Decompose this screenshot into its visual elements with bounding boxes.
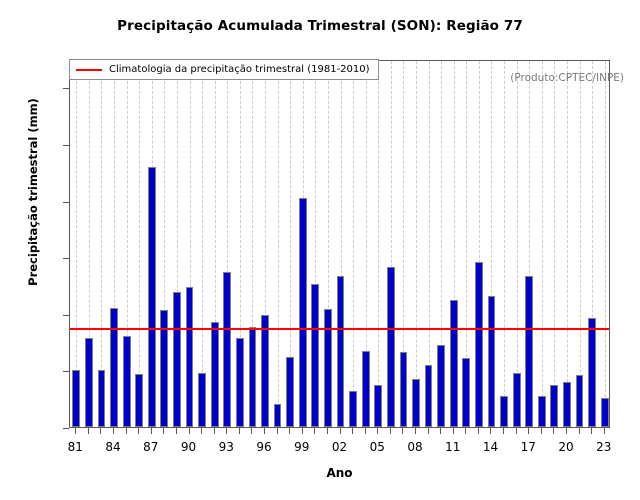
x-tick-mark xyxy=(490,428,491,434)
x-tick-mark xyxy=(75,428,76,434)
gridline xyxy=(542,61,543,427)
bar xyxy=(450,300,458,427)
gridline xyxy=(353,61,354,427)
bar xyxy=(387,267,395,427)
x-tick-label: 14 xyxy=(470,440,510,454)
x-tick-mark xyxy=(302,428,303,434)
x-tick-label: 81 xyxy=(55,440,95,454)
x-tick-mark xyxy=(516,428,517,434)
gridline xyxy=(416,61,417,427)
gridline xyxy=(517,61,518,427)
bar xyxy=(374,385,382,427)
x-tick-mark xyxy=(189,428,190,434)
bar xyxy=(412,379,420,427)
x-tick-mark xyxy=(314,428,315,434)
bar xyxy=(488,296,496,427)
legend: Climatologia da precipitação trimestral … xyxy=(69,59,379,80)
x-tick-mark xyxy=(88,428,89,434)
x-tick-mark xyxy=(340,428,341,434)
x-tick-mark xyxy=(440,428,441,434)
x-tick-mark xyxy=(453,428,454,434)
produto-annotation: (Produto:CPTEC/INPE) xyxy=(510,72,624,84)
x-tick-mark xyxy=(327,428,328,434)
x-tick-mark xyxy=(415,428,416,434)
bar xyxy=(85,338,93,427)
x-tick-label: 20 xyxy=(546,440,586,454)
x-axis-label: Ano xyxy=(69,466,610,480)
bar xyxy=(236,338,244,427)
x-tick-label: 99 xyxy=(282,440,322,454)
bar xyxy=(223,272,231,427)
legend-line-swatch xyxy=(76,69,102,71)
x-tick-label: 02 xyxy=(320,440,360,454)
bar xyxy=(123,336,131,427)
x-tick-label: 90 xyxy=(169,440,209,454)
x-tick-mark xyxy=(566,428,567,434)
gridline xyxy=(378,61,379,427)
x-tick-label: 23 xyxy=(584,440,624,454)
bar xyxy=(198,373,206,427)
x-tick-mark xyxy=(553,428,554,434)
bar xyxy=(362,351,370,427)
x-tick-mark xyxy=(402,428,403,434)
legend-item-label: Climatologia da precipitação trimestral … xyxy=(109,64,370,75)
bar xyxy=(337,276,345,427)
bar xyxy=(110,308,118,427)
x-tick-label: 17 xyxy=(508,440,548,454)
bar xyxy=(349,391,357,427)
bar xyxy=(98,370,106,427)
bar xyxy=(525,276,533,427)
x-tick-mark xyxy=(201,428,202,434)
x-tick-mark xyxy=(377,428,378,434)
x-tick-mark xyxy=(591,428,592,434)
bar xyxy=(148,167,156,427)
x-tick-mark xyxy=(113,428,114,434)
bar xyxy=(261,315,269,427)
gridline xyxy=(504,61,505,427)
plot-area xyxy=(69,60,610,428)
page-title: Precipitação Acumulada Trimestral (SON):… xyxy=(0,18,640,34)
bar xyxy=(425,365,433,427)
x-tick-mark xyxy=(226,428,227,434)
x-tick-mark xyxy=(365,428,366,434)
gridline xyxy=(580,61,581,427)
gridline xyxy=(139,61,140,427)
x-tick-mark xyxy=(126,428,127,434)
bar xyxy=(500,396,508,427)
y-tick-mark xyxy=(63,428,69,429)
gridline xyxy=(278,61,279,427)
bar xyxy=(299,198,307,427)
x-tick-mark xyxy=(277,428,278,434)
x-tick-label: 96 xyxy=(244,440,284,454)
x-tick-label: 93 xyxy=(206,440,246,454)
bar xyxy=(173,292,181,427)
bar xyxy=(550,385,558,427)
bar xyxy=(311,284,319,427)
x-tick-mark xyxy=(264,428,265,434)
bar xyxy=(437,345,445,427)
gridline xyxy=(554,61,555,427)
x-tick-label: 08 xyxy=(395,440,435,454)
x-tick-mark xyxy=(528,428,529,434)
bar xyxy=(286,357,294,427)
bar xyxy=(324,309,332,427)
x-tick-mark xyxy=(176,428,177,434)
gridline xyxy=(567,61,568,427)
bar xyxy=(513,373,521,427)
bar xyxy=(249,327,257,427)
x-tick-mark xyxy=(478,428,479,434)
bar xyxy=(72,370,80,427)
x-tick-mark xyxy=(579,428,580,434)
chart-figure: Precipitação Acumulada Trimestral (SON):… xyxy=(0,0,640,500)
x-tick-label: 87 xyxy=(131,440,171,454)
x-tick-mark xyxy=(163,428,164,434)
x-tick-mark xyxy=(604,428,605,434)
bar xyxy=(462,358,470,427)
x-tick-mark xyxy=(251,428,252,434)
bar xyxy=(576,375,584,427)
x-tick-mark xyxy=(151,428,152,434)
bar xyxy=(588,318,596,427)
bar xyxy=(475,262,483,427)
x-tick-mark xyxy=(465,428,466,434)
x-tick-mark xyxy=(352,428,353,434)
x-tick-mark xyxy=(390,428,391,434)
x-tick-mark xyxy=(289,428,290,434)
bar xyxy=(274,404,282,427)
bar xyxy=(601,398,609,427)
x-tick-label: 84 xyxy=(93,440,133,454)
x-tick-mark xyxy=(100,428,101,434)
x-tick-mark xyxy=(428,428,429,434)
gridline xyxy=(605,61,606,427)
bar xyxy=(211,322,219,427)
bar xyxy=(135,374,143,427)
x-tick-mark xyxy=(541,428,542,434)
climatology-reference-line xyxy=(70,328,609,330)
bar xyxy=(538,396,546,427)
x-tick-mark xyxy=(138,428,139,434)
bar xyxy=(400,352,408,427)
y-axis-label: Precipitação trimestral (mm) xyxy=(26,77,40,307)
gridline xyxy=(202,61,203,427)
x-tick-mark xyxy=(214,428,215,434)
x-tick-mark xyxy=(503,428,504,434)
x-tick-mark xyxy=(239,428,240,434)
bar xyxy=(186,287,194,427)
x-tick-label: 11 xyxy=(433,440,473,454)
x-tick-label: 05 xyxy=(357,440,397,454)
bar xyxy=(563,382,571,427)
